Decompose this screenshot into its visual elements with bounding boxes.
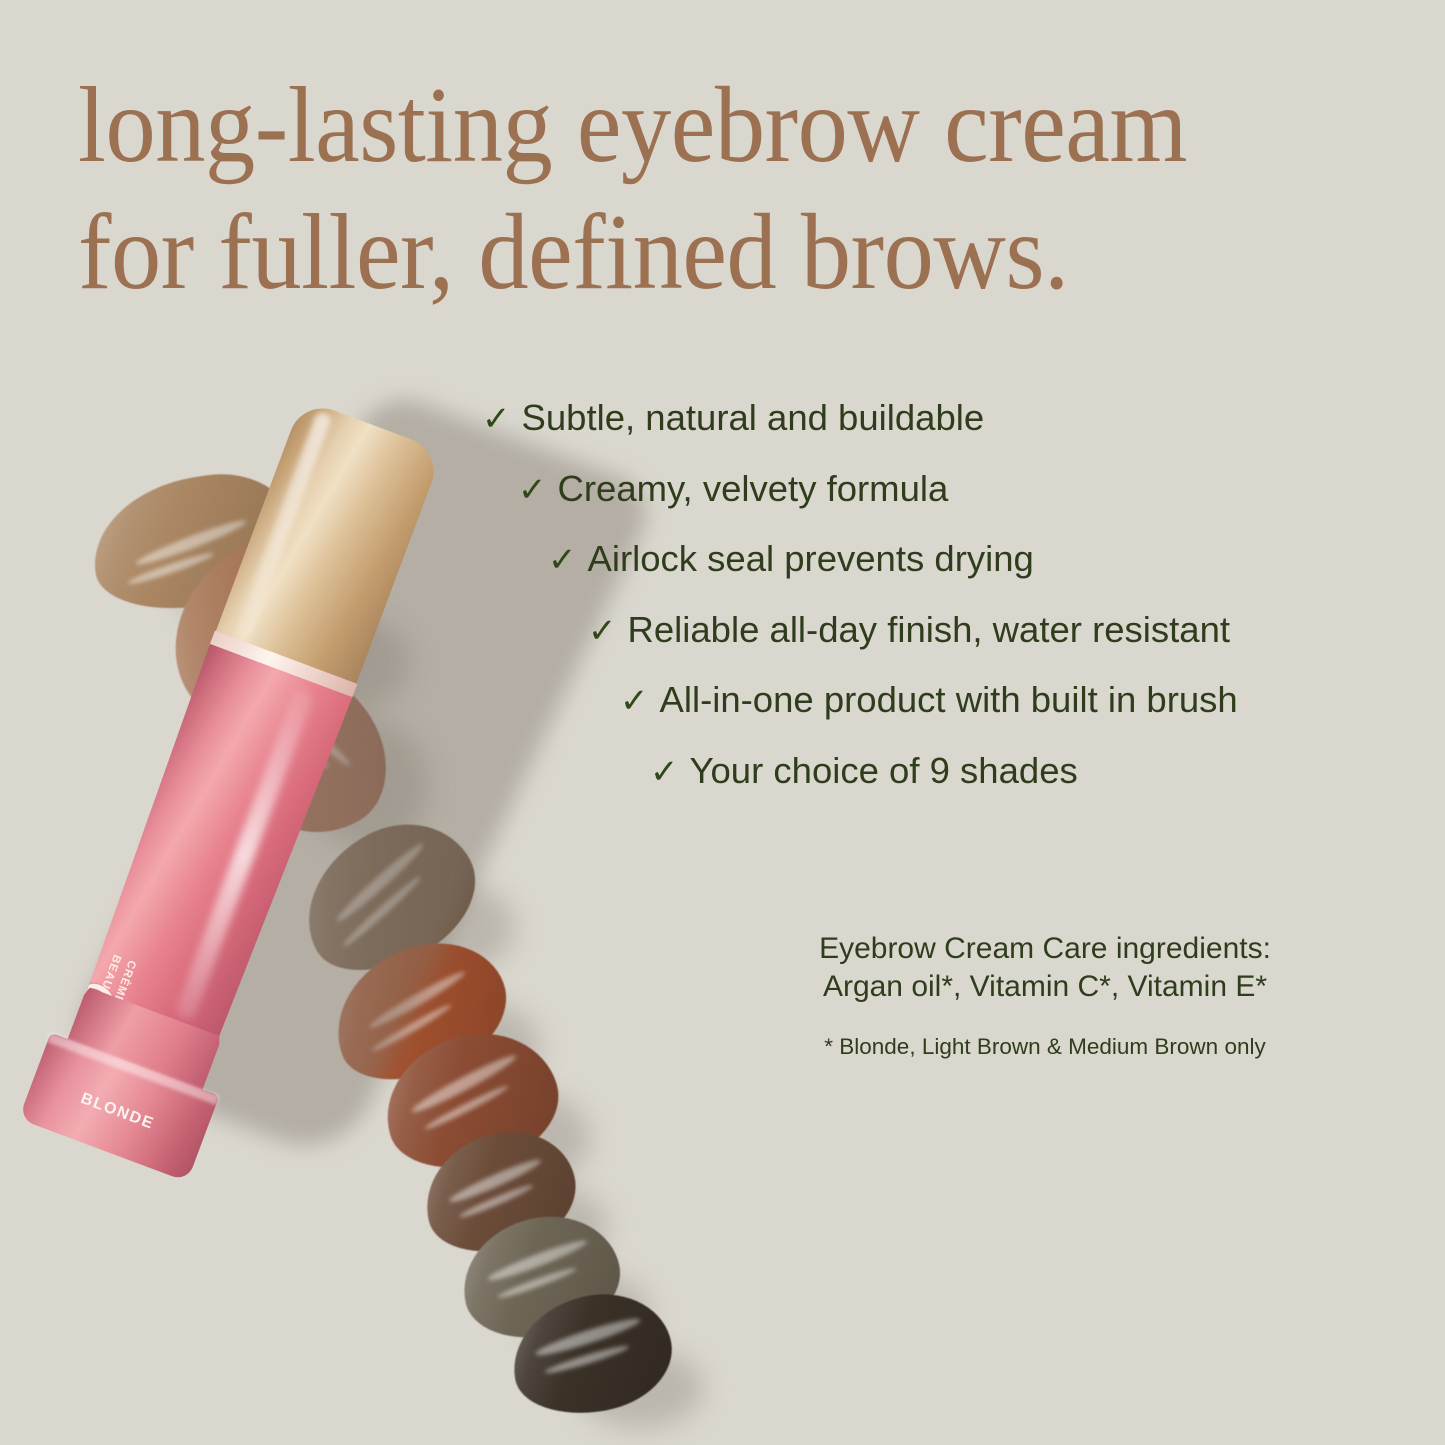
feature-label: Your choice of 9 shades [690,753,1078,790]
feature-item: ✓ Reliable all-day finish, water resista… [588,612,1340,649]
check-icon: ✓ [588,614,617,648]
product-marketing-image: long-lasting eyebrow cream for fuller, d… [0,0,1445,1445]
ingredients-heading: Eyebrow Cream Care ingredients: [745,930,1345,968]
feature-item: ✓ All-in-one product with built in brush [620,682,1340,719]
ingredients-list: Argan oil*, Vitamin C*, Vitamin E* [745,968,1345,1006]
check-icon: ✓ [548,543,577,577]
feature-label: All-in-one product with built in brush [660,682,1238,719]
feature-label: Reliable all-day finish, water resistant [628,612,1231,649]
feature-label: Subtle, natural and buildable [522,400,985,437]
page-title: long-lasting eyebrow cream for fuller, d… [78,62,1315,317]
feature-list: ✓ Subtle, natural and buildable ✓ Creamy… [440,400,1340,823]
ingredients-footnote: * Blonde, Light Brown & Medium Brown onl… [745,1033,1345,1060]
ingredients-block: Eyebrow Cream Care ingredients: Argan oi… [745,930,1345,1060]
check-icon: ✓ [620,684,649,718]
check-icon: ✓ [650,755,679,789]
check-icon: ✓ [518,473,547,507]
feature-item: ✓ Airlock seal prevents drying [548,541,1340,578]
feature-label: Creamy, velvety formula [558,471,949,508]
feature-label: Airlock seal prevents drying [588,541,1034,578]
feature-item: ✓ Subtle, natural and buildable [482,400,1340,437]
check-icon: ✓ [482,402,511,436]
feature-item: ✓ Creamy, velvety formula [518,471,1340,508]
feature-item: ✓ Your choice of 9 shades [650,753,1340,790]
